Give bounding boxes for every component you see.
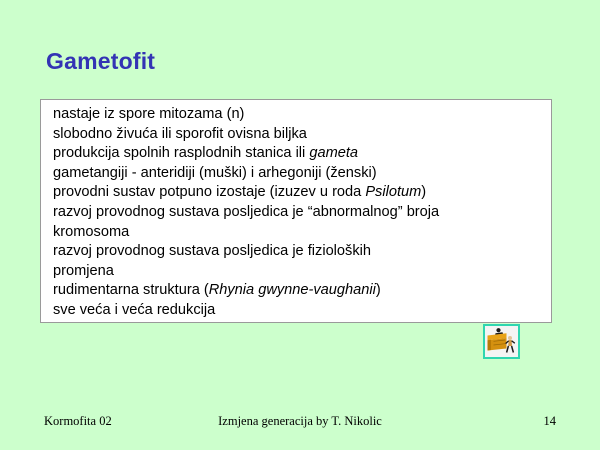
italic-term: gameta <box>309 145 358 161</box>
footer-center-label: Izmjena generacija by T. Nikolic <box>218 414 382 429</box>
body-text-line: kromosoma <box>53 223 545 243</box>
text-run: provodni sustav potpuno izostaje (izuzev… <box>53 184 365 200</box>
text-run: sve veća i veća redukcija <box>53 302 215 318</box>
text-run: razvoj provodnog sustava posljedica je “… <box>53 204 439 220</box>
body-text-line: promjena <box>53 262 545 282</box>
text-run: razvoj provodnog sustava posljedica je f… <box>53 243 371 259</box>
body-text-line: sve veća i veća redukcija <box>53 301 545 321</box>
text-run: produkcija spolnih rasplodnih stanica il… <box>53 145 309 161</box>
text-run: promjena <box>53 263 114 279</box>
body-text-line: provodni sustav potpuno izostaje (izuzev… <box>53 183 545 203</box>
body-text-line: razvoj provodnog sustava posljedica je “… <box>53 203 545 223</box>
text-run: slobodno živuća ili sporofit ovisna bilj… <box>53 126 307 142</box>
desk-worker-clipart-icon <box>483 324 520 359</box>
text-run: ) <box>421 184 426 200</box>
body-text-line: slobodno živuća ili sporofit ovisna bilj… <box>53 125 545 145</box>
text-run: nastaje iz spore mitozama (n) <box>53 106 244 122</box>
page-title: Gametofit <box>46 48 155 75</box>
body-text-line: razvoj provodnog sustava posljedica je f… <box>53 242 545 262</box>
text-run: rudimentarna struktura ( <box>53 282 209 298</box>
body-text-line: produkcija spolnih rasplodnih stanica il… <box>53 144 545 164</box>
italic-term: Rhynia gwynne-vaughanii <box>209 282 376 298</box>
slide-canvas: Gametofit nastaje iz spore mitozama (n)s… <box>0 0 600 450</box>
body-text-line: rudimentarna struktura (Rhynia gwynne-va… <box>53 281 545 301</box>
slide-footer: Kormofita 02 Izmjena generacija by T. Ni… <box>0 412 600 436</box>
text-run: gametangiji - anteridiji (muški) i arheg… <box>53 165 377 181</box>
footer-left-label: Kormofita 02 <box>44 414 112 429</box>
footer-page-number: 14 <box>544 414 557 429</box>
text-run: kromosoma <box>53 224 129 240</box>
body-text-list: nastaje iz spore mitozama (n)slobodno ži… <box>53 105 545 321</box>
italic-term: Psilotum <box>365 184 421 200</box>
text-run: ) <box>376 282 381 298</box>
body-text-line: nastaje iz spore mitozama (n) <box>53 105 545 125</box>
content-text-box: nastaje iz spore mitozama (n)slobodno ži… <box>40 99 552 323</box>
body-text-line: gametangiji - anteridiji (muški) i arheg… <box>53 164 545 184</box>
